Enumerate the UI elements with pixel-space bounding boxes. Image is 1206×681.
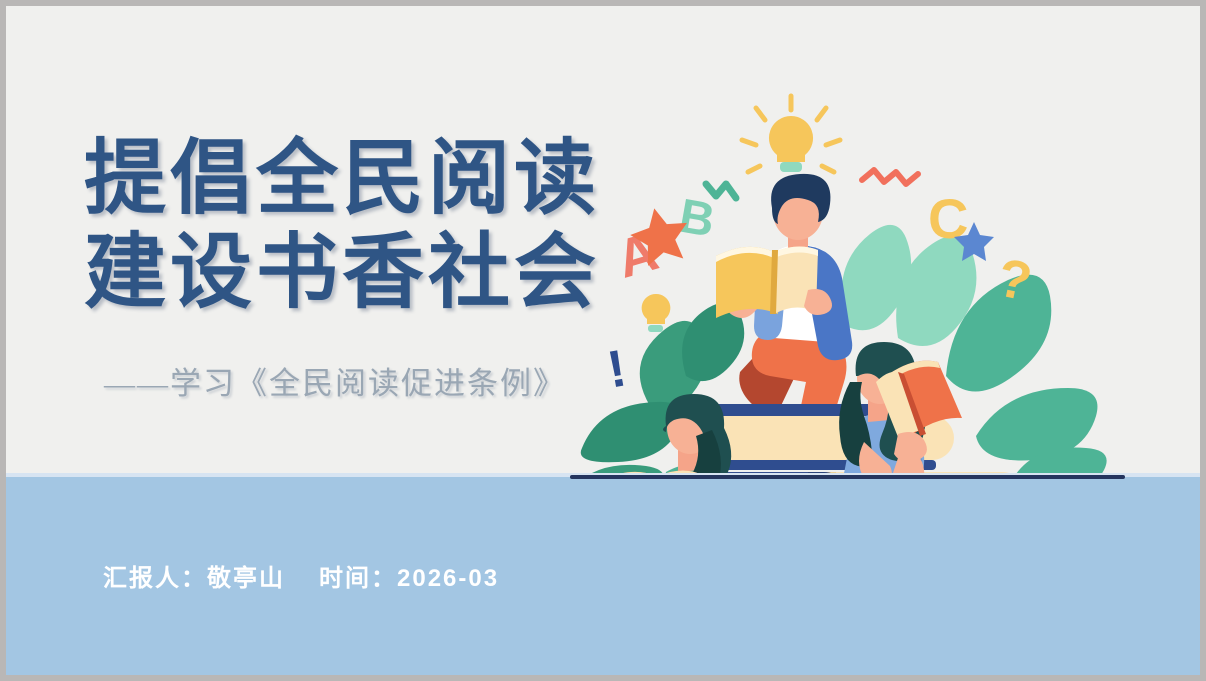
title-line-2: 建设书香社会 xyxy=(84,226,624,320)
page-subtitle: ——学习《全民阅读促进条例》 xyxy=(104,358,566,403)
presenter-label: 汇报人：敬亭山 xyxy=(103,565,285,592)
footer-meta: 汇报人：敬亭山时间：2026-03 xyxy=(103,558,499,593)
exclamation-mark-icon: ! xyxy=(603,340,630,400)
svg-text:!: ! xyxy=(603,340,630,400)
presentation-slide: A B C ? ! xyxy=(0,0,1206,681)
title-line-1: 提倡全民阅读 xyxy=(84,132,624,226)
lightbulb-large-icon xyxy=(742,96,840,172)
zigzag-coral-icon xyxy=(862,170,918,184)
lightbulb-small-icon xyxy=(642,294,671,332)
letter-b-icon: B xyxy=(675,190,718,248)
slide-canvas: A B C ? ! xyxy=(6,6,1200,675)
illustration-ground-line xyxy=(570,475,1125,479)
reading-illustration: A B C ? ! xyxy=(546,76,1166,496)
date-label: 时间：2026-03 xyxy=(319,565,499,592)
book-open-yellow xyxy=(716,246,818,318)
page-title: 提倡全民阅读 建设书香社会 xyxy=(84,132,624,320)
svg-text:B: B xyxy=(675,190,718,248)
